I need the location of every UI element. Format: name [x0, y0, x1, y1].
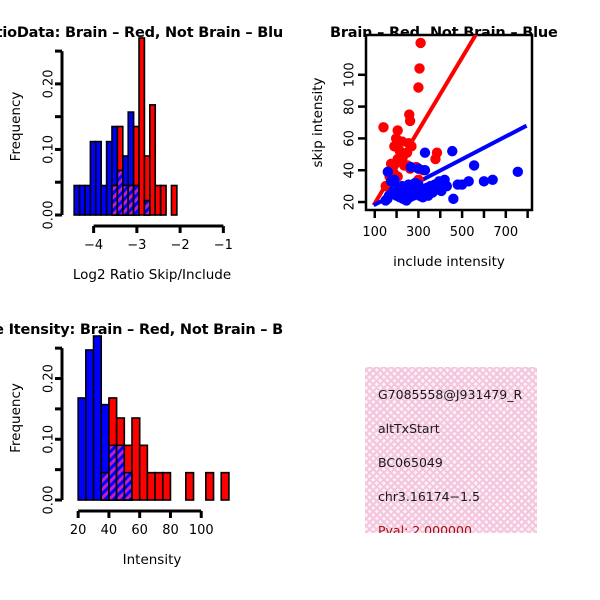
ratio-histogram-plot: 0.000.100.20−4−3−2−1Log2 Ratio Skip/Incl…: [0, 20, 300, 310]
scatter-plot: 20406080100100300500700include intensity…: [300, 20, 600, 310]
svg-text:−3: −3: [127, 238, 146, 253]
svg-text:80: 80: [343, 98, 358, 115]
svg-text:60: 60: [343, 130, 358, 147]
svg-text:include intensity: include intensity: [393, 254, 505, 270]
annotation-line-locus: chr3.16174−1.5: [378, 489, 537, 504]
svg-text:−1: −1: [214, 238, 233, 253]
svg-text:Log2 Ratio Skip/Include: Log2 Ratio Skip/Include: [73, 267, 231, 283]
svg-text:40: 40: [101, 523, 118, 538]
svg-text:0.00: 0.00: [42, 201, 57, 230]
svg-text:0.20: 0.20: [42, 364, 57, 393]
gene-intensity-plot: 0.000.100.2020406080100IntensityFrequenc…: [0, 318, 300, 598]
panel-ratio-histogram: atioData: Brain – Red, Not Brain – Blu 0…: [0, 0, 300, 310]
svg-text:skip intensity: skip intensity: [310, 77, 326, 167]
svg-text:40: 40: [343, 162, 358, 179]
svg-text:Intensity: Intensity: [123, 552, 182, 568]
annotation-box: G7085558@J931479_R altTxStart BC065049 c…: [365, 367, 537, 533]
svg-text:300: 300: [406, 225, 431, 240]
svg-text:500: 500: [450, 225, 475, 240]
svg-text:0.20: 0.20: [42, 69, 57, 98]
svg-text:Frequency: Frequency: [8, 383, 24, 453]
svg-text:−2: −2: [171, 238, 190, 253]
svg-text:−4: −4: [84, 238, 103, 253]
svg-text:20: 20: [343, 194, 358, 211]
svg-text:0.10: 0.10: [42, 135, 57, 164]
svg-text:Frequency: Frequency: [8, 92, 24, 162]
annotation-lines: G7085558@J931479_R altTxStart BC065049 c…: [378, 387, 537, 533]
annotation-line-accession: BC065049: [378, 455, 537, 470]
svg-text:0.10: 0.10: [42, 425, 57, 454]
annotation-pval: Pval: 2.000000: [378, 523, 537, 533]
svg-text:0.00: 0.00: [42, 486, 57, 515]
panel-gene-intensity-histogram: ne Itensity: Brain – Red, Not Brain – B …: [0, 300, 300, 600]
annotation-line-event: altTxStart: [378, 421, 537, 436]
panel-intensity-scatter: Brain – Red, Not Brain – Blue 2040608010…: [300, 0, 600, 310]
svg-text:80: 80: [162, 523, 179, 538]
svg-text:100: 100: [362, 225, 387, 240]
annotation-line-probe: G7085558@J931479_R: [378, 387, 537, 402]
svg-text:100: 100: [343, 62, 358, 87]
svg-text:100: 100: [189, 523, 214, 538]
svg-text:700: 700: [493, 225, 518, 240]
svg-text:20: 20: [70, 523, 87, 538]
svg-text:60: 60: [131, 523, 148, 538]
